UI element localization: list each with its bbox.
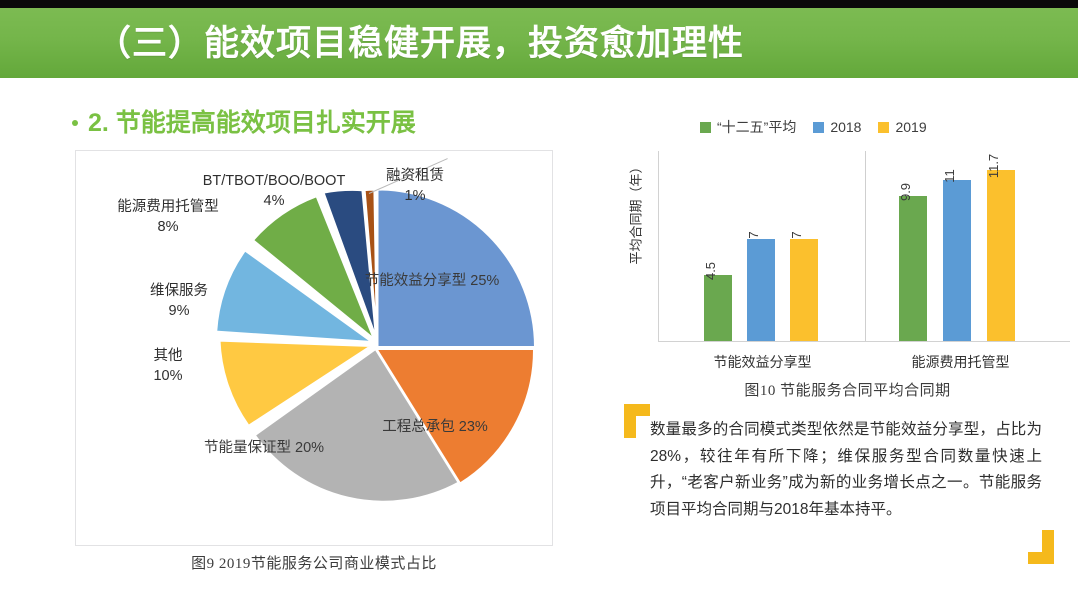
slide-header-bar: （三）能效项目稳健开展，投资愈加理性 xyxy=(0,8,1078,78)
page-title: （三）能效项目稳健开展，投资愈加理性 xyxy=(96,26,744,61)
pie-label-trusteeship-name: 能源费用托管型 xyxy=(117,199,219,215)
bar-g2-2019: 11.7 xyxy=(987,170,1015,341)
corner-bracket-top-left-icon xyxy=(624,404,650,438)
legend-item-twelfth-five-average: “十二五”平均 xyxy=(700,117,796,137)
bar-group-label-benefit-sharing: 节能效益分享型 xyxy=(680,352,845,372)
pie-inlabel-benefit-pct: 25% xyxy=(470,273,499,289)
slide-canvas: （三）能效项目稳健开展，投资愈加理性 2. 节能提高能效项目扎实开展 xyxy=(0,0,1078,609)
pie-label-others-name: 其他 xyxy=(154,348,183,364)
bar-chart-x-axis-line xyxy=(658,341,1070,342)
pie-label-others-pct: 10% xyxy=(123,367,213,387)
summary-note-block: 数量最多的合同模式类型依然是节能效益分享型，占比为28%，较往年有所下降；维保服… xyxy=(624,404,1054,564)
pie-chart-caption: 图9 2019节能服务公司商业模式占比 xyxy=(75,552,553,573)
pie-inlabel-epc: 工程总承包 23% xyxy=(370,417,500,437)
bar-value-g1-2019: 7 xyxy=(789,231,804,238)
bar-g2-twelfth-five: 9.9 xyxy=(899,196,927,341)
bar-value-g1-2018: 7 xyxy=(746,231,761,238)
pie-inlabel-epc-name: 工程总承包 xyxy=(382,419,455,435)
legend-swatch-blue xyxy=(813,122,824,133)
bar-chart: 平均合同期（年） 4.5 7 7 节能效益分享型 9.9 11 11.7 能源费… xyxy=(620,151,1075,372)
legend-label-twelfth-five-average: “十二五”平均 xyxy=(717,117,796,137)
pie-inlabel-benefit-name: 节能效益分享型 xyxy=(365,273,467,289)
summary-note-text: 数量最多的合同模式类型依然是节能效益分享型，占比为28%，较往年有所下降；维保服… xyxy=(650,417,1042,524)
pie-label-leasing-name: 融资租赁 xyxy=(386,168,444,184)
pie-label-bt-name: BT/TBOT/BOO/BOOT xyxy=(203,173,346,189)
bullet-dot-icon xyxy=(72,120,78,126)
pie-label-others: 其他 10% xyxy=(123,347,213,386)
pie-inlabel-benefit-sharing: 节能效益分享型 25% xyxy=(357,271,507,291)
pie-label-financial-leasing: 融资租赁 1% xyxy=(350,167,480,206)
bar-value-g2-2019: 11.7 xyxy=(986,154,1001,178)
bar-g1-2018: 7 xyxy=(747,239,775,341)
bar-group-label-cost-trusteeship-text: 能源费用托管型 xyxy=(912,354,1010,370)
pie-label-maintenance-pct: 9% xyxy=(124,302,234,322)
bar-value-g1-twelfth-five: 4.5 xyxy=(703,262,718,280)
bar-chart-legend: “十二五”平均 2018 2019 xyxy=(700,117,927,137)
bar-chart-y-axis-title: 平均合同期（年） xyxy=(626,153,645,273)
section-subheading: 2. 节能提高能效项目扎实开展 xyxy=(72,103,416,139)
bar-chart-group-divider xyxy=(865,151,866,341)
pie-slice-energy-saving-benefit-sharing xyxy=(378,190,536,348)
bar-chart-y-axis-line xyxy=(658,151,659,341)
legend-label-2019: 2019 xyxy=(895,119,926,135)
bar-group-label-cost-trusteeship: 能源费用托管型 xyxy=(878,352,1043,372)
pie-chart-svg xyxy=(211,183,541,513)
pie-chart xyxy=(211,183,541,513)
bar-g1-2019: 7 xyxy=(790,239,818,341)
pie-label-maintenance-name: 维保服务 xyxy=(150,283,208,299)
section-subheading-label: 2. 节能提高能效项目扎实开展 xyxy=(88,103,416,139)
bar-group-label-benefit-sharing-text: 节能效益分享型 xyxy=(714,354,812,370)
bar-g2-2018: 11 xyxy=(943,180,971,341)
legend-item-2019: 2019 xyxy=(878,119,926,135)
legend-swatch-green xyxy=(700,122,711,133)
pie-inlabel-guarantee-name: 节能量保证型 xyxy=(204,440,291,456)
legend-item-2018: 2018 xyxy=(813,119,861,135)
bar-g1-twelfth-five: 4.5 xyxy=(704,275,732,341)
bar-chart-caption: 图10 节能服务合同平均合同期 xyxy=(620,379,1075,400)
pie-label-energy-cost-trusteeship: 能源费用托管型 8% xyxy=(98,198,238,237)
pie-inlabel-guarantee-pct: 20% xyxy=(295,440,324,456)
top-black-strip xyxy=(0,0,1078,8)
pie-label-leasing-pct: 1% xyxy=(350,187,480,207)
pie-label-maintenance-service: 维保服务 9% xyxy=(124,282,234,321)
legend-swatch-yellow xyxy=(878,122,889,133)
corner-bracket-bottom-right-icon xyxy=(1028,530,1054,564)
pie-chart-panel: BT/TBOT/BOO/BOOT 4% 融资租赁 1% 能源费用托管型 8% 维… xyxy=(75,150,553,546)
legend-label-2018: 2018 xyxy=(830,119,861,135)
bar-value-g2-twelfth-five: 9.9 xyxy=(898,183,913,201)
pie-inlabel-guarantee: 节能量保证型 20% xyxy=(189,438,339,458)
pie-inlabel-epc-pct: 23% xyxy=(459,419,488,435)
pie-label-trusteeship-pct: 8% xyxy=(98,218,238,238)
bar-value-g2-2018: 11 xyxy=(942,169,957,183)
